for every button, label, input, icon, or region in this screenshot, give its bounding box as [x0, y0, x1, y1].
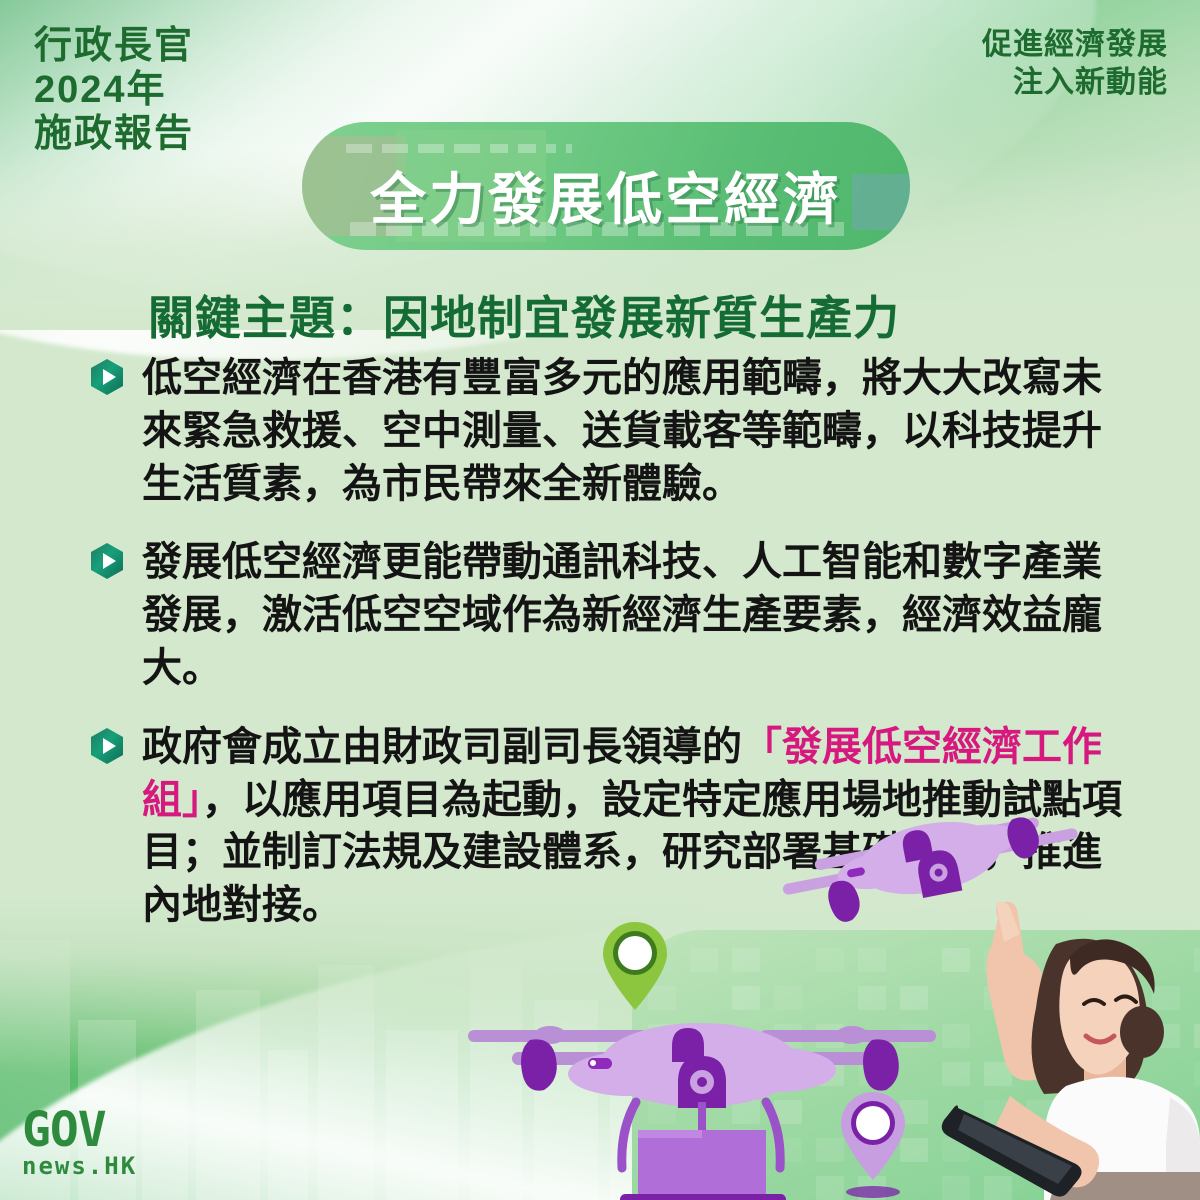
bullet-item: 低空經濟在香港有豐富多元的應用範疇，將大大改寫未來緊急救援、空中測量、送貨載客等… [88, 352, 1134, 510]
logo-line-newshk: news.HK [22, 1154, 137, 1178]
banner-pixel-row-top [346, 144, 572, 153]
page-title: 全力發展低空經濟 [302, 155, 910, 236]
play-hexagon-icon [88, 727, 126, 765]
banner-pixel-block [382, 144, 408, 153]
bullet-plain-text: 政府會成立由財政司副司長領導的 [142, 725, 742, 769]
report-title-line-3: 施政報告 [34, 112, 194, 156]
main-title-banner: 全力發展低空經濟 [302, 122, 910, 250]
play-hexagon-icon [88, 542, 126, 580]
banner-pixel-block [546, 144, 556, 153]
banner-pixel-block [454, 144, 480, 153]
tagline-line-1: 促進經濟發展 [982, 26, 1168, 64]
bullet-text: 低空經濟在香港有豐富多元的應用範疇，將大大改寫未來緊急救援、空中測量、送貨載客等… [142, 352, 1134, 510]
map-pin-green-icon [600, 920, 670, 1012]
banner-pixel-block [518, 144, 536, 153]
bullet-item: 發展低空經濟更能帶動通訊科技、人工智能和數字產業發展，激活低空空域作為新經濟生產… [88, 536, 1134, 694]
woman-pointing-with-tablet-photo [870, 900, 1200, 1200]
logo-line-gov: GOV [22, 1108, 137, 1152]
report-title-block: 行政長官 2024年 施政報告 [34, 24, 194, 156]
tagline-block: 促進經濟發展 注入新動能 [982, 26, 1168, 102]
banner-pixel-block [418, 144, 444, 153]
tagline-line-2: 注入新動能 [982, 64, 1168, 102]
gov-news-logo[interactable]: GOV news.HK [22, 1108, 137, 1178]
bullet-plain-text: 低空經濟在香港有豐富多元的應用範疇，將大大改寫未來緊急救援、空中測量、送貨載客等… [142, 356, 1102, 506]
play-hexagon-icon [88, 358, 126, 396]
banner-pixel-block [346, 144, 372, 153]
bullet-plain-text: 發展低空經濟更能帶動通訊科技、人工智能和數字產業發展，激活低空空域作為新經濟生產… [142, 540, 1102, 690]
report-title-line-1: 行政長官 [34, 24, 194, 68]
banner-pixel-block [566, 144, 572, 153]
bullet-text: 發展低空經濟更能帶動通訊科技、人工智能和數字產業發展，激活低空空域作為新經濟生產… [142, 536, 1134, 694]
banner-pixel-block [490, 144, 508, 153]
infographic-poster: 行政長官 2024年 施政報告 促進經濟發展 注入新動能 全力發展低空經濟 關鍵… [0, 0, 1200, 1200]
key-theme-subtitle: 關鍵主題：因地制宜發展新質生產力 [148, 282, 900, 348]
report-title-line-2: 2024年 [34, 68, 194, 112]
